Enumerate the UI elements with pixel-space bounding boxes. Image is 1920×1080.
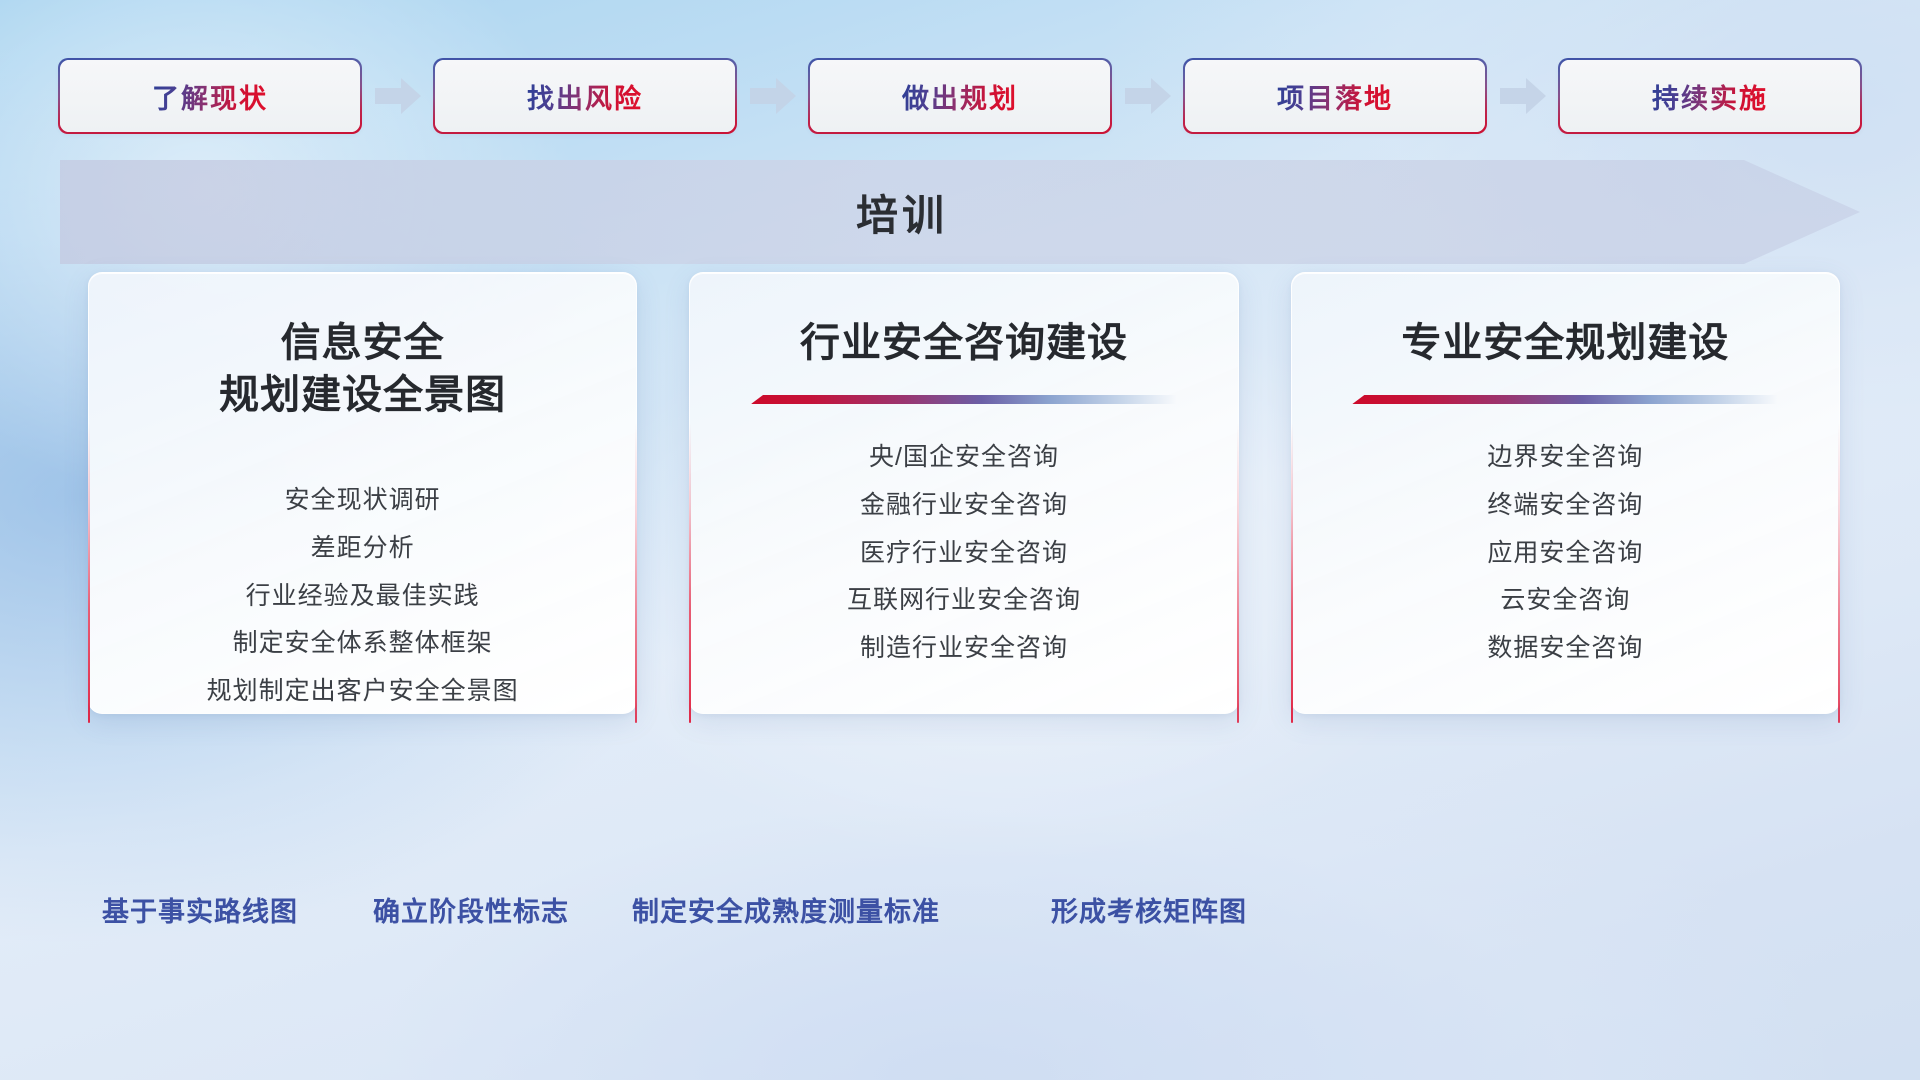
card-title-1: 信息安全 规划建设全景图 [219, 317, 506, 421]
arrow-right-icon [750, 78, 796, 114]
step-arrow-2 [735, 78, 810, 114]
card-right-accent [1237, 423, 1239, 723]
list-item: 行业经验及最佳实践 [246, 577, 480, 616]
card-title-3: 专业安全规划建设 [1401, 317, 1729, 369]
step-label-4: 项目落地 [1277, 77, 1393, 116]
step-label-1: 了解现状 [152, 77, 268, 116]
card-grid: 信息安全 规划建设全景图 安全现状调研 差距分析 行业经验及最佳实践 制定安全体… [88, 272, 1840, 714]
step-box-4[interactable]: 项目落地 [1185, 60, 1485, 132]
card-divider-2 [751, 395, 1177, 404]
training-banner: 培训 [60, 160, 1860, 264]
list-item: 制造行业安全咨询 [860, 629, 1068, 668]
banner-title: 培训 [60, 160, 1860, 264]
list-item: 云安全咨询 [1500, 581, 1630, 620]
step-arrow-3 [1110, 78, 1185, 114]
list-item: 应用安全咨询 [1487, 534, 1643, 573]
step-box-5[interactable]: 持续实施 [1560, 60, 1860, 132]
footer-caption-3: 制定安全成熟度测量标准 [632, 890, 940, 929]
card-right-accent [1838, 423, 1840, 723]
arrow-right-icon [1500, 78, 1546, 114]
step-label-2: 找出风险 [527, 77, 643, 116]
list-item: 互联网行业安全咨询 [847, 581, 1081, 620]
card-list-3: 边界安全咨询 终端安全咨询 应用安全咨询 云安全咨询 数据安全咨询 [1487, 438, 1643, 668]
card-list-2: 央/国企安全咨询 金融行业安全咨询 医疗行业安全咨询 互联网行业安全咨询 制造行… [847, 438, 1081, 668]
card-2[interactable]: 行业安全咨询建设 央/国企安全咨询 金融行业安全咨询 医疗行业安全咨询 互联网行… [689, 272, 1238, 714]
step-arrow-1 [360, 78, 435, 114]
card-divider-3 [1352, 395, 1778, 404]
list-item: 央/国企安全咨询 [869, 438, 1059, 477]
card-list-1: 安全现状调研 差距分析 行业经验及最佳实践 制定安全体系整体框架 规划制定出客户… [207, 481, 519, 711]
arrow-right-icon [375, 78, 421, 114]
list-item: 安全现状调研 [285, 481, 441, 520]
card-left-accent [88, 423, 90, 723]
footer-caption-1: 基于事实路线图 [102, 890, 298, 929]
step-box-3[interactable]: 做出规划 [810, 60, 1110, 132]
list-item: 金融行业安全咨询 [860, 486, 1068, 525]
card-title-2: 行业安全咨询建设 [800, 317, 1128, 369]
card-3[interactable]: 专业安全规划建设 边界安全咨询 终端安全咨询 应用安全咨询 云安全咨询 数据安全… [1291, 272, 1840, 714]
list-item: 终端安全咨询 [1487, 486, 1643, 525]
list-item: 差距分析 [311, 529, 415, 568]
step-label-5: 持续实施 [1652, 77, 1768, 116]
list-item: 边界安全咨询 [1487, 438, 1643, 477]
slide-root: 了解现状 找出风险 做出规划 项目落地 [0, 0, 1920, 1080]
card-1[interactable]: 信息安全 规划建设全景图 安全现状调研 差距分析 行业经验及最佳实践 制定安全体… [88, 272, 637, 714]
list-item: 数据安全咨询 [1487, 629, 1643, 668]
card-left-accent [1291, 423, 1293, 723]
footer-caption-2: 确立阶段性标志 [373, 890, 569, 929]
step-box-1[interactable]: 了解现状 [60, 60, 360, 132]
list-item: 医疗行业安全咨询 [860, 534, 1068, 573]
step-arrow-4 [1485, 78, 1560, 114]
list-item: 规划制定出客户安全全景图 [207, 672, 519, 711]
footer-caption-4: 形成考核矩阵图 [1051, 890, 1247, 929]
step-label-3: 做出规划 [902, 77, 1018, 116]
list-item: 制定安全体系整体框架 [233, 624, 493, 663]
card-right-accent [635, 423, 637, 723]
footer-caption-row: 基于事实路线图 确立阶段性标志 制定安全成熟度测量标准 形成考核矩阵图 [0, 890, 1920, 948]
step-box-2[interactable]: 找出风险 [435, 60, 735, 132]
card-left-accent [689, 423, 691, 723]
process-step-row: 了解现状 找出风险 做出规划 项目落地 [60, 58, 1860, 134]
arrow-right-icon [1125, 78, 1171, 114]
